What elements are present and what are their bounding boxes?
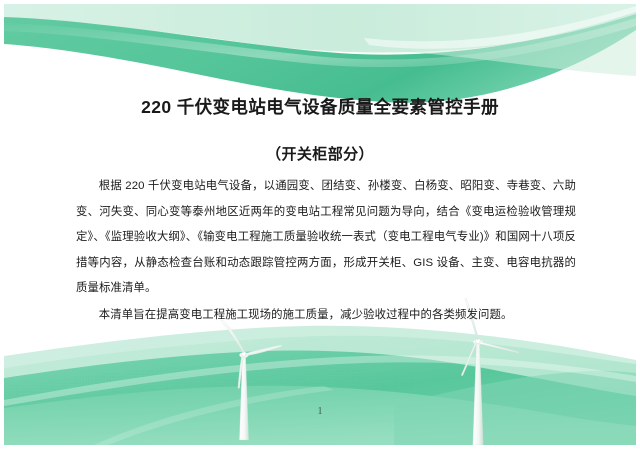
document-content: 220 千伏变电站电气设备质量全要素管控手册 （开关柜部分） 根据 220 千伏… [4, 4, 636, 445]
page-title: 220 千伏变电站电气设备质量全要素管控手册 [4, 96, 636, 119]
page-subtitle: （开关柜部分） [4, 119, 636, 164]
page-sheet: 220 千伏变电站电气设备质量全要素管控手册 （开关柜部分） 根据 220 千伏… [4, 4, 636, 445]
document-page: 220 千伏变电站电气设备质量全要素管控手册 （开关柜部分） 根据 220 千伏… [0, 0, 640, 449]
paragraph-2: 本清单旨在提高变电工程施工现场的施工质量，减少验收过程中的各类频发问题。 [76, 303, 576, 329]
body-text: 根据 220 千伏变电站电气设备，以通园变、团结变、孙楼变、白杨变、昭阳变、寺巷… [76, 174, 576, 328]
title-block: 220 千伏变电站电气设备质量全要素管控手册 （开关柜部分） [4, 96, 636, 164]
paragraph-1: 根据 220 千伏变电站电气设备，以通园变、团结变、孙楼变、白杨变、昭阳变、寺巷… [76, 174, 576, 302]
page-number: 1 [4, 406, 636, 417]
